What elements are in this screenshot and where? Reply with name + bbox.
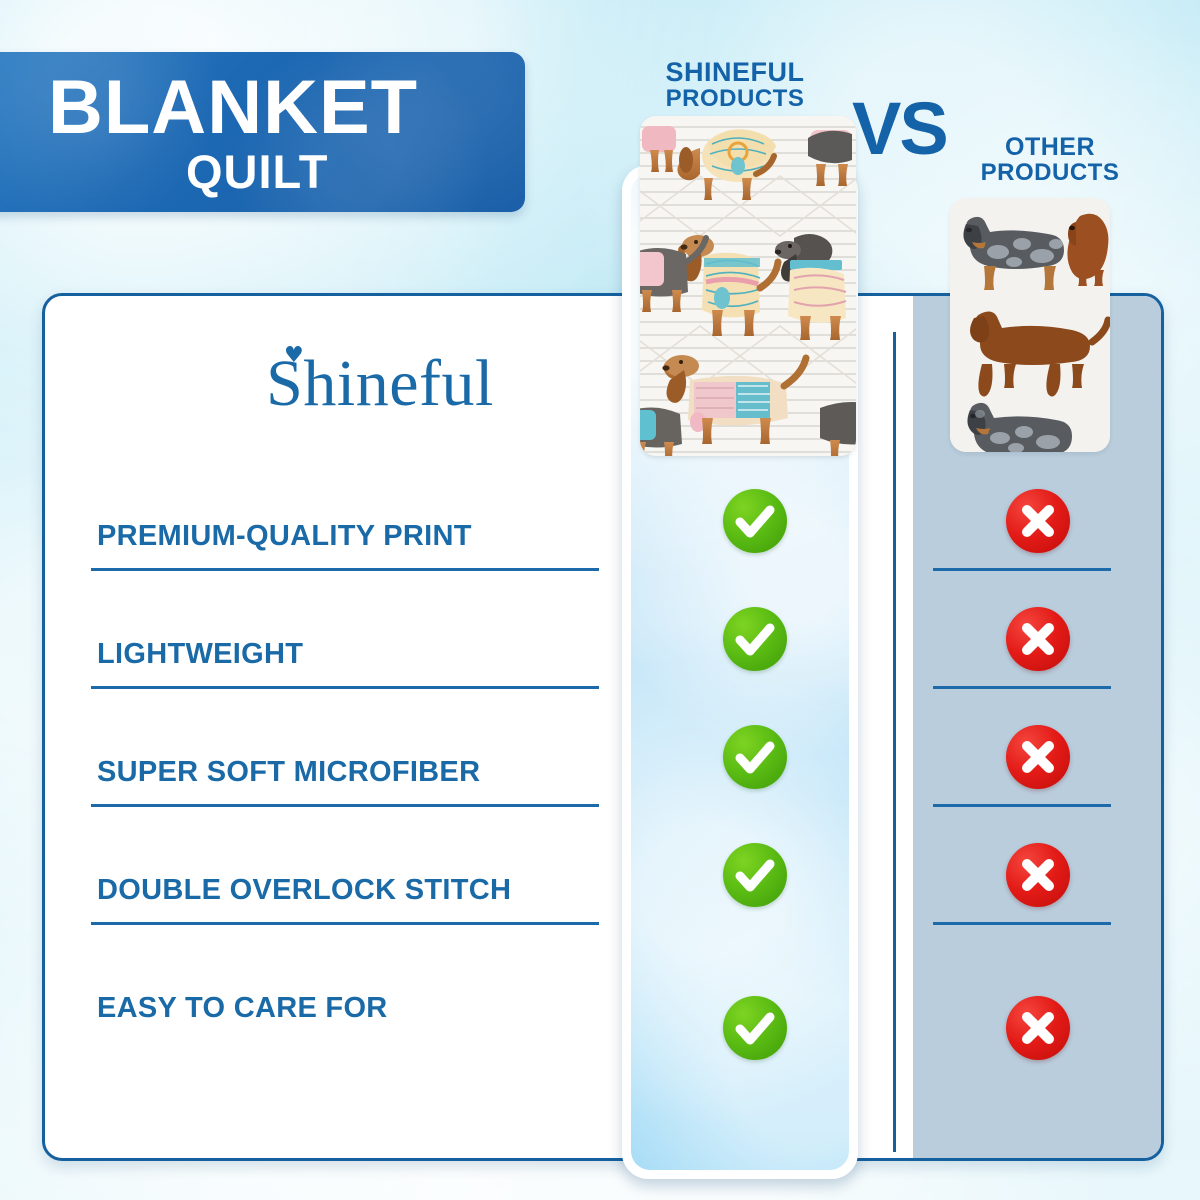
check-icon-3 bbox=[723, 843, 787, 907]
shineful-header-line1: SHINEFUL bbox=[666, 57, 805, 87]
row-divider-left-2 bbox=[91, 804, 599, 807]
feature-label-4: EASY TO CARE FOR bbox=[97, 992, 607, 1025]
brand-logo: ♥ Shineful bbox=[145, 351, 615, 417]
row-divider-left-3 bbox=[91, 922, 599, 925]
cross-icon-2 bbox=[1006, 725, 1070, 789]
other-product-image bbox=[950, 198, 1110, 452]
row-divider-left-1 bbox=[91, 686, 599, 689]
cross-icon-4 bbox=[1006, 996, 1070, 1060]
other-column-header: OTHER PRODUCTS bbox=[955, 134, 1145, 185]
cross-icon-3 bbox=[1006, 843, 1070, 907]
feature-label-0: PREMIUM-QUALITY PRINT bbox=[97, 520, 607, 553]
cross-icon-0 bbox=[1006, 489, 1070, 553]
feature-label-3: DOUBLE OVERLOCK STITCH bbox=[97, 874, 607, 907]
check-icon-0 bbox=[723, 489, 787, 553]
row-divider-left-0 bbox=[91, 568, 599, 571]
check-icon-1 bbox=[723, 607, 787, 671]
check-icon-2 bbox=[723, 725, 787, 789]
shineful-product-image bbox=[640, 116, 856, 456]
shineful-column-header: SHINEFUL PRODUCTS bbox=[620, 58, 850, 112]
cross-icon-1 bbox=[1006, 607, 1070, 671]
row-divider-right-0 bbox=[933, 568, 1111, 571]
title-banner: BLANKET QUILT bbox=[0, 52, 525, 212]
other-panel-divider bbox=[893, 332, 896, 1152]
other-header-line1: OTHER bbox=[1005, 133, 1095, 161]
banner-title-secondary: QUILT bbox=[186, 148, 329, 195]
feature-label-2: SUPER SOFT MICROFIBER bbox=[97, 756, 607, 789]
feature-label-1: LIGHTWEIGHT bbox=[97, 638, 607, 671]
row-divider-right-3 bbox=[933, 922, 1111, 925]
check-icon-4 bbox=[723, 996, 787, 1060]
other-header-line2: PRODUCTS bbox=[955, 160, 1145, 185]
vs-label: VS bbox=[852, 96, 972, 163]
row-divider-right-1 bbox=[933, 686, 1111, 689]
banner-title-primary: BLANKET bbox=[48, 70, 418, 146]
heart-icon: ♥ bbox=[284, 345, 304, 367]
row-divider-right-2 bbox=[933, 804, 1111, 807]
shineful-header-line2: PRODUCTS bbox=[620, 86, 850, 111]
